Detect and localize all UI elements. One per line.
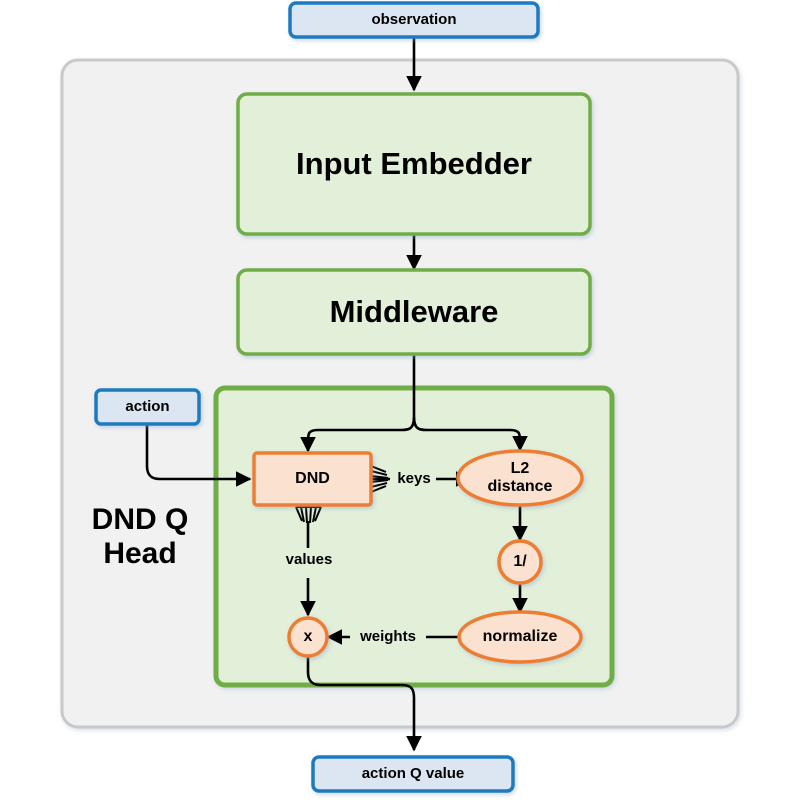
node-input-embedder[interactable] <box>238 94 590 234</box>
node-dnd[interactable] <box>254 453 371 505</box>
node-normalize[interactable] <box>459 612 581 662</box>
keys-label-backplate <box>392 467 436 491</box>
node-l2-distance[interactable] <box>458 451 582 505</box>
node-action[interactable] <box>96 390 199 424</box>
weights-label-backplate <box>350 625 426 649</box>
node-middleware[interactable] <box>238 270 590 354</box>
node-inverse[interactable] <box>499 541 541 583</box>
dnd-q-head-diagram: observation Input Embedder Middleware ac… <box>0 0 800 800</box>
values-label-backplate <box>278 548 340 572</box>
node-multiply[interactable] <box>289 618 327 656</box>
node-observation[interactable] <box>290 3 538 37</box>
diagram-canvas <box>0 0 800 800</box>
